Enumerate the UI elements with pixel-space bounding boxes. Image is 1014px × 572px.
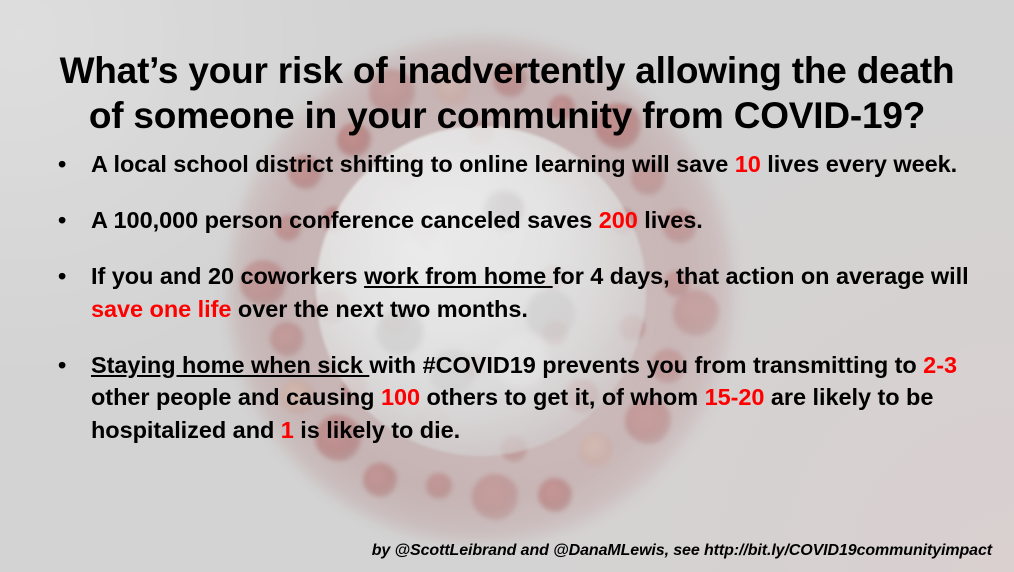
text-run: others to get it, of whom <box>420 384 705 410</box>
bullet-marker-icon: • <box>58 204 66 237</box>
highlight-number: 100 <box>381 384 420 410</box>
text-run: lives every week. <box>761 151 957 177</box>
bullet-list: •A local school district shifting to onl… <box>46 148 992 447</box>
slide-content: What’s your risk of inadvertently allowi… <box>0 0 1014 572</box>
highlight-number: save one life <box>91 296 231 322</box>
bullet-marker-icon: • <box>58 148 66 181</box>
attribution-footer: by @ScottLeibrand and @DanaMLewis, see h… <box>372 542 992 560</box>
highlight-number: 15-20 <box>705 384 765 410</box>
text-run: A local school district shifting to onli… <box>91 151 735 177</box>
title-line-2: of someone in your community from COVID-… <box>14 94 1000 139</box>
text-run: If you and 20 coworkers <box>91 263 364 289</box>
bullet-item: •Staying home when sick with #COVID19 pr… <box>46 349 992 448</box>
underlined-phrase: Staying home when sick <box>91 352 369 378</box>
text-run: lives. <box>638 207 703 233</box>
text-run: is likely to die. <box>294 417 460 443</box>
slide-canvas: What’s your risk of inadvertently allowi… <box>0 0 1014 572</box>
bullet-text: Staying home when sick with #COVID19 pre… <box>91 349 992 448</box>
underlined-phrase: work from home <box>364 263 553 289</box>
bullet-text: A 100,000 person conference canceled sav… <box>91 204 992 237</box>
bullet-item: •A 100,000 person conference canceled sa… <box>46 204 992 237</box>
text-run: other people and causing <box>91 384 381 410</box>
bullet-marker-icon: • <box>58 260 66 293</box>
highlight-number: 2-3 <box>923 352 957 378</box>
bullet-text: If you and 20 coworkers work from home f… <box>91 260 992 326</box>
text-run: A 100,000 person conference canceled sav… <box>91 207 599 233</box>
page-title: What’s your risk of inadvertently allowi… <box>0 49 1014 139</box>
text-run: over the next two months. <box>231 296 527 322</box>
text-run: for 4 days, that action on average will <box>553 263 969 289</box>
bullet-marker-icon: • <box>58 349 66 382</box>
bullet-item: •A local school district shifting to onl… <box>46 148 992 181</box>
highlight-number: 10 <box>735 151 761 177</box>
highlight-number: 200 <box>599 207 638 233</box>
text-run: with #COVID19 prevents you from transmit… <box>369 352 923 378</box>
highlight-number: 1 <box>281 417 294 443</box>
bullet-item: •If you and 20 coworkers work from home … <box>46 260 992 326</box>
title-line-1: What’s your risk of inadvertently allowi… <box>14 49 1000 94</box>
bullet-text: A local school district shifting to onli… <box>91 148 992 181</box>
